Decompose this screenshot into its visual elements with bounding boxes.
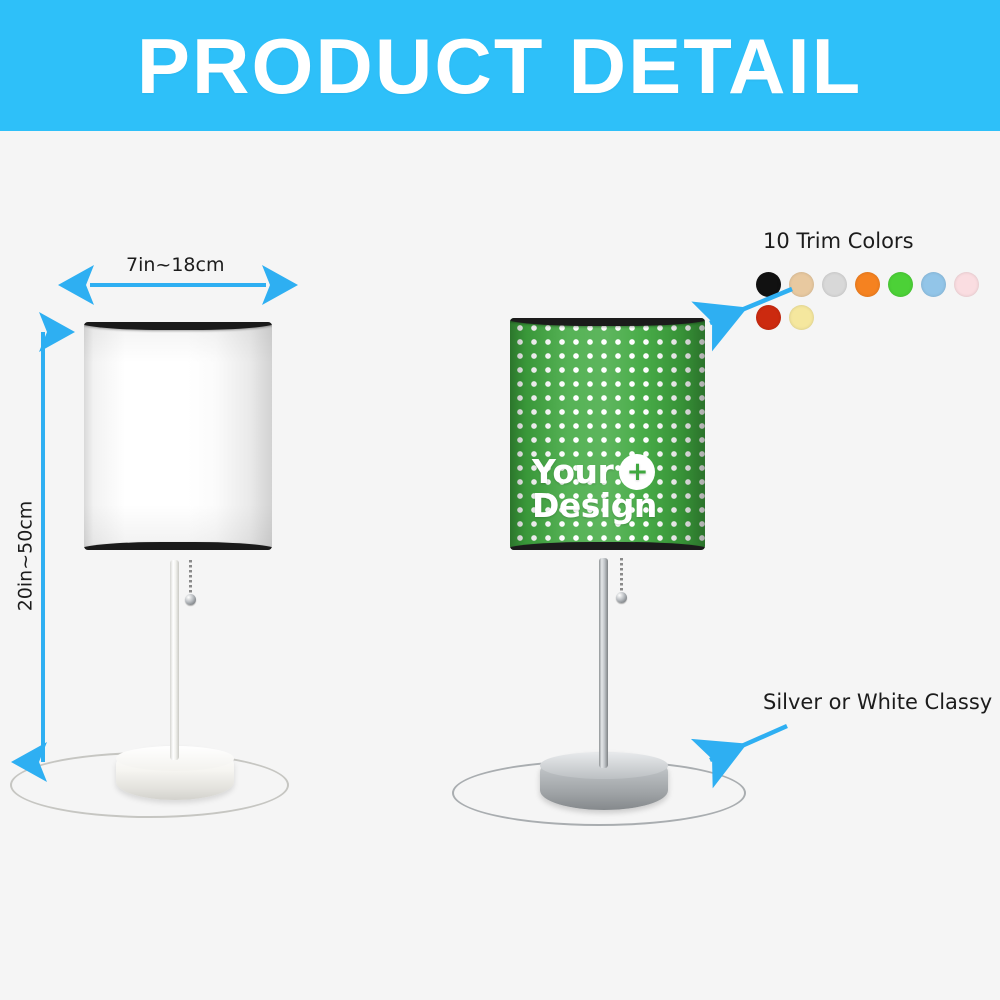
pull-chain-bead-right [616, 592, 627, 603]
swatch-green[interactable] [888, 272, 913, 297]
trim-colors-pointer-arrow [692, 283, 802, 335]
pull-chain-left [189, 560, 192, 598]
lamp-right: Your + Design [430, 0, 780, 1000]
width-dimension-arrow [80, 272, 276, 298]
logo-line-1: Your [532, 456, 613, 488]
lampshade-right: Your + Design [510, 318, 705, 550]
shade-trim-top-left [84, 322, 272, 330]
product-detail-page: PRODUCT DETAIL 7in~18cm [0, 0, 1000, 1000]
shade-shading-overlay [510, 318, 705, 550]
lampshade-left [84, 322, 272, 550]
shade-trim-bottom-left [84, 542, 272, 550]
your-design-logo: Your + Design [532, 454, 682, 522]
base-finish-pointer-arrow [692, 718, 802, 770]
plus-icon: + [619, 454, 655, 490]
pull-chain-bead-left [185, 594, 196, 605]
shade-trim-bottom-right [510, 542, 705, 550]
swatch-light-gray[interactable] [822, 272, 847, 297]
shade-trim-top-right [510, 318, 705, 326]
swatch-pink[interactable] [954, 272, 979, 297]
swatch-orange[interactable] [855, 272, 880, 297]
pull-chain-right [620, 558, 623, 596]
height-dimension-arrow [30, 322, 56, 772]
trim-colors-title: 10 Trim Colors [763, 229, 914, 253]
base-finish-label: Silver or White Classy [763, 690, 992, 714]
lamp-pole-left [170, 560, 179, 760]
swatch-light-blue[interactable] [921, 272, 946, 297]
lamp-pole-right [599, 558, 608, 768]
logo-line-2: Design [532, 490, 682, 522]
